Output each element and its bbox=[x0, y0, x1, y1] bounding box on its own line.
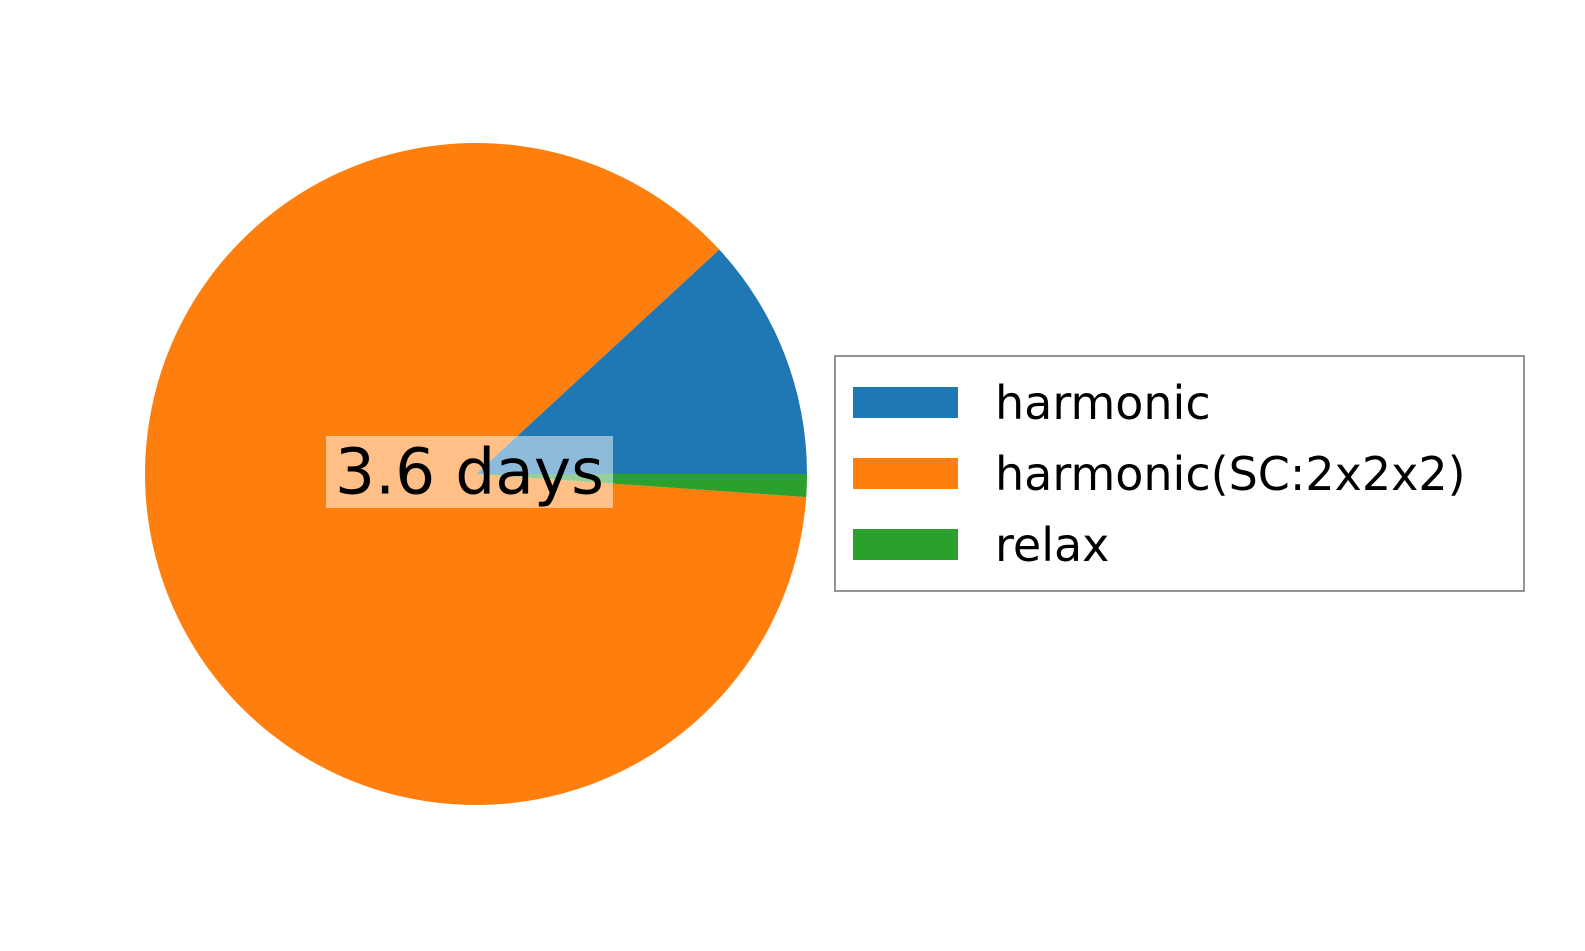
legend-label-harmonic: harmonic bbox=[995, 380, 1211, 426]
legend-item-harmonic[interactable]: harmonic bbox=[853, 367, 1523, 438]
legend-item-relax[interactable]: relax bbox=[853, 509, 1523, 580]
legend-swatch-icon-harmonic-sc222 bbox=[853, 458, 958, 489]
legend-label-harmonic-sc222: harmonic(SC:2x2x2) bbox=[995, 451, 1466, 497]
legend: harmonic harmonic(SC:2x2x2) relax bbox=[834, 355, 1525, 592]
total-time-annotation: 3.6 days bbox=[326, 436, 613, 508]
legend-swatch-icon-relax bbox=[853, 529, 958, 560]
legend-label-relax: relax bbox=[995, 522, 1109, 568]
legend-swatch-icon-harmonic bbox=[853, 387, 958, 418]
pie-chart-figure: 3.6 days harmonic harmonic(SC:2x2x2) rel… bbox=[0, 0, 1585, 951]
annotation-text: 3.6 days bbox=[326, 441, 613, 504]
legend-item-harmonic-sc222[interactable]: harmonic(SC:2x2x2) bbox=[853, 438, 1523, 509]
